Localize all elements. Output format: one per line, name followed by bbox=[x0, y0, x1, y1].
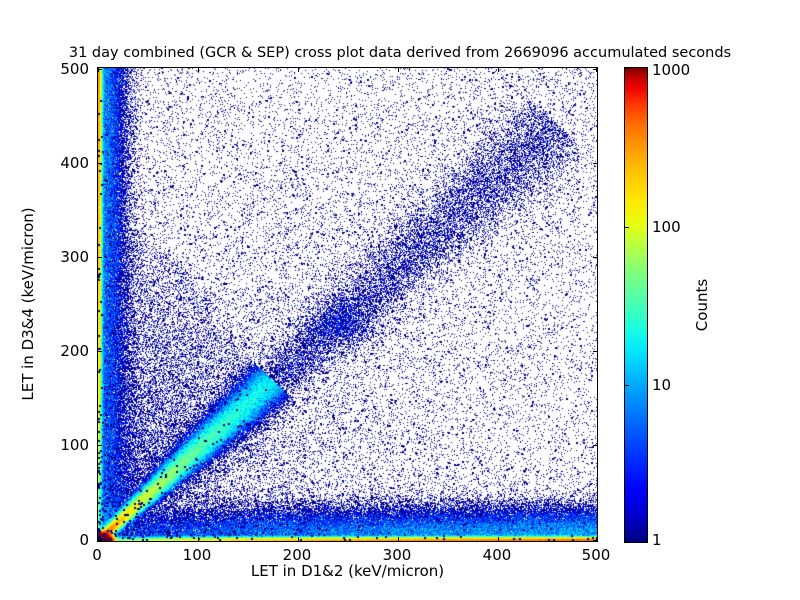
x-axis-label: LET in D1&2 (keV/micron) bbox=[97, 562, 598, 580]
colorbar-label-1000: 1000 bbox=[652, 61, 690, 79]
ytick-right-300 bbox=[593, 257, 597, 258]
xtick-top-100 bbox=[198, 68, 199, 72]
ytick-400 bbox=[98, 163, 102, 164]
figure-canvas: 31 day combined (GCR & SEP) cross plot d… bbox=[0, 0, 800, 600]
plot-axes bbox=[97, 67, 598, 542]
ytick-200 bbox=[98, 351, 102, 352]
yticklabel-500: 500 bbox=[51, 60, 89, 78]
yticklabel-100: 100 bbox=[51, 436, 89, 454]
yticklabel-300: 300 bbox=[51, 248, 89, 266]
yticklabel-400: 400 bbox=[51, 154, 89, 172]
xtick-300 bbox=[398, 537, 399, 541]
xtick-top-300 bbox=[398, 68, 399, 72]
colorbar bbox=[624, 67, 648, 543]
ytick-300 bbox=[98, 257, 102, 258]
colorbar-label-100: 100 bbox=[652, 218, 681, 236]
scatter-heatmap-canvas bbox=[98, 68, 597, 541]
colorbar-tick-10 bbox=[624, 385, 629, 386]
xtick-top-200 bbox=[298, 68, 299, 72]
colorbar-tick-1 bbox=[624, 541, 629, 542]
ytick-right-400 bbox=[593, 163, 597, 164]
ytick-0 bbox=[98, 540, 102, 541]
xtick-100 bbox=[198, 537, 199, 541]
colorbar-tick-1000 bbox=[624, 68, 629, 69]
colorbar-tick-100 bbox=[624, 227, 629, 228]
ytick-right-200 bbox=[593, 351, 597, 352]
yticklabel-0: 0 bbox=[51, 531, 89, 549]
ytick-500 bbox=[98, 69, 102, 70]
xtick-200 bbox=[298, 537, 299, 541]
y-axis-label-text: LET in D3&4 (keV/micron) bbox=[19, 207, 37, 400]
ytick-right-100 bbox=[593, 445, 597, 446]
colorbar-label-10: 10 bbox=[652, 376, 671, 394]
ytick-right-0 bbox=[593, 540, 597, 541]
xtick-400 bbox=[498, 537, 499, 541]
colorbar-title-text: Counts bbox=[693, 279, 711, 331]
ytick-100 bbox=[98, 445, 102, 446]
yticklabel-200: 200 bbox=[51, 342, 89, 360]
xtick-top-400 bbox=[498, 68, 499, 72]
colorbar-gradient bbox=[624, 67, 648, 543]
colorbar-label-1: 1 bbox=[652, 531, 662, 549]
ytick-right-500 bbox=[593, 69, 597, 70]
